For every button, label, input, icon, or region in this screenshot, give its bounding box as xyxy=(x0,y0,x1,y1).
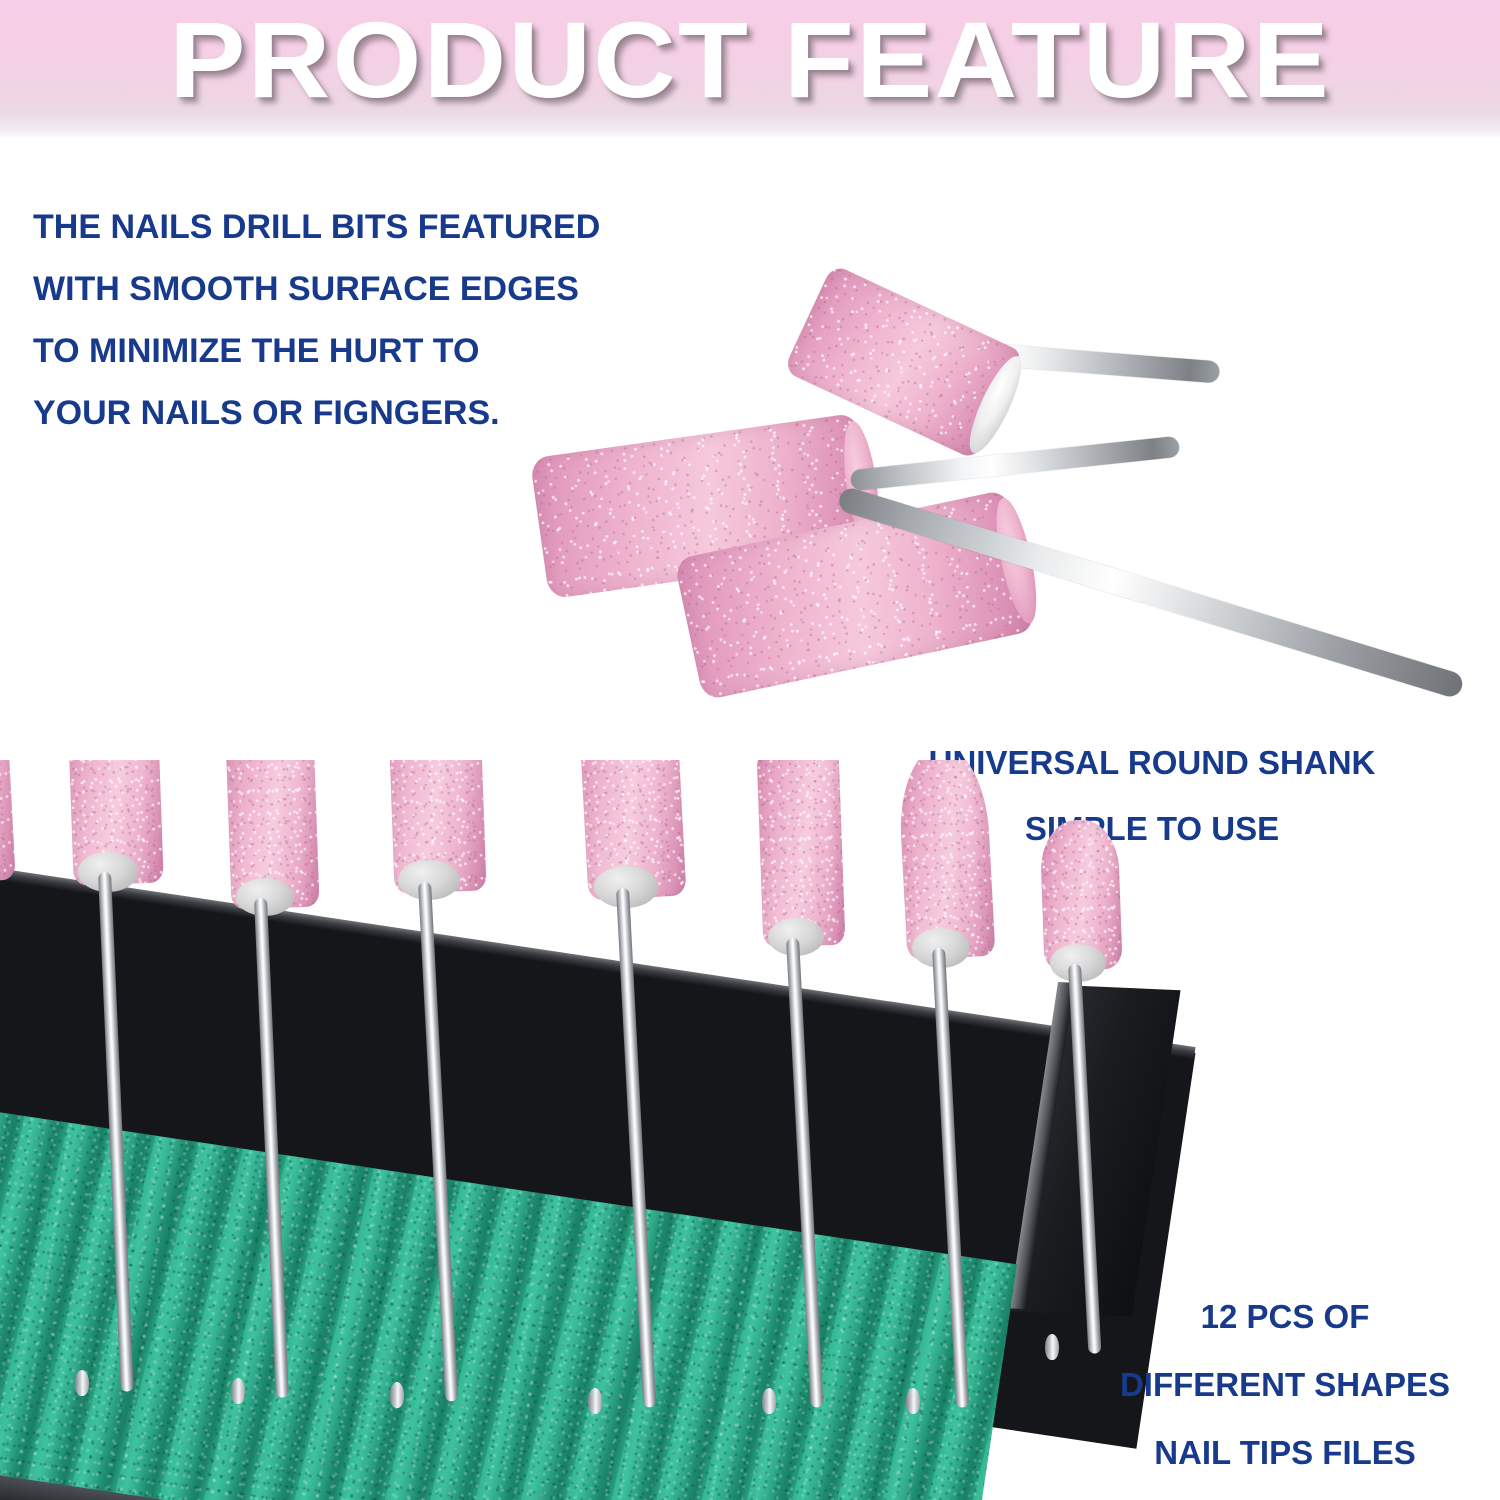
feature-line-1: THE NAILS DRILL BITS FEATURED xyxy=(33,196,773,258)
tray-bit-4-shank-tip xyxy=(390,1382,404,1408)
product-feature-infographic: PRODUCT FEATURE THE NAILS DRILL BITS FEA… xyxy=(0,0,1500,1500)
tray-bit-3-shank-tip xyxy=(231,1378,245,1404)
tray-bit-5-shank-tip xyxy=(588,1388,602,1414)
pcs-caption-line-2: DIFFERENT SHAPES xyxy=(1065,1351,1500,1419)
header-banner: PRODUCT FEATURE xyxy=(0,0,1500,137)
pcs-caption: 12 PCS OF DIFFERENT SHAPES NAIL TIPS FIL… xyxy=(1065,1283,1500,1487)
tray-bit-1-head xyxy=(0,760,16,884)
loose-shank-middle xyxy=(850,436,1180,491)
grit-texture xyxy=(0,760,16,884)
tray-bit-6-shank-tip xyxy=(762,1388,776,1414)
pcs-caption-line-1: 12 PCS OF xyxy=(1065,1283,1500,1351)
loose-drill-bits-photo xyxy=(520,285,1500,705)
tray-bit-2-shank-tip xyxy=(75,1370,89,1396)
tray-bit-7-shank-tip xyxy=(906,1388,920,1414)
tray-bit-8-shank-tip xyxy=(1045,1334,1059,1360)
page-title: PRODUCT FEATURE xyxy=(0,6,1500,114)
pcs-caption-line-3: NAIL TIPS FILES xyxy=(1065,1419,1500,1487)
